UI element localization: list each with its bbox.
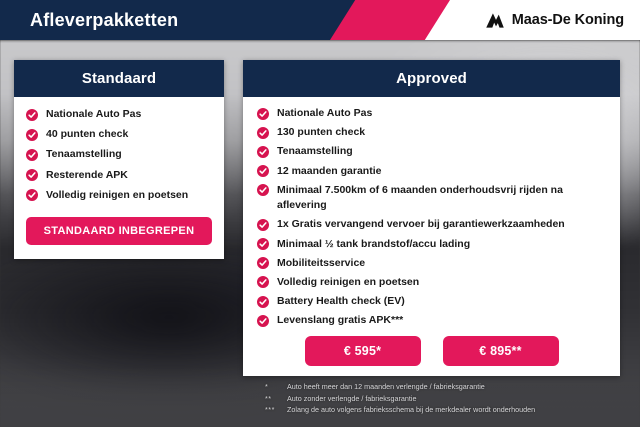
list-item-label: Levenslang gratis APK*** [277,314,403,326]
price-button-row: € 595* € 895** [257,336,606,366]
list-item: Mobiliteitsservice [257,256,606,271]
check-circle-icon [257,127,269,139]
header-bar: Afleverpakketten Maas-De Koning [0,0,640,40]
check-circle-icon [257,219,269,231]
check-circle-icon [257,165,269,177]
check-circle-icon [26,129,38,141]
check-circle-icon [26,169,38,181]
card-standaard-body: Nationale Auto Pas 40 punten check Tenaa… [14,97,224,259]
list-item: Tenaamstelling [26,147,212,162]
check-circle-icon [26,149,38,161]
list-item: 1x Gratis vervangend vervoer bij garanti… [257,217,606,232]
list-item-label: Tenaamstelling [46,148,122,160]
footnote-marker: *** [265,404,287,416]
list-item: Minimaal 7.500km of 6 maanden onderhouds… [257,183,606,213]
header-shadow [0,40,640,43]
list-item-label: 12 maanden garantie [277,165,381,177]
list-item: Resterende APK [26,168,212,183]
list-item: Volledig reinigen en poetsen [26,188,212,203]
card-standaard-heading: Standaard [14,60,224,97]
footnote-text: Auto zonder verlengde / fabrieksgarantie [287,393,625,405]
check-circle-icon [257,296,269,308]
list-item-label: 1x Gratis vervangend vervoer bij garanti… [277,218,565,230]
price-button-595[interactable]: € 595* [305,336,421,366]
standaard-feature-list: Nationale Auto Pas 40 punten check Tenaa… [26,107,212,203]
footnote-text: Auto heeft meer dan 12 maanden verlengde… [287,381,625,393]
footnote-text: Zolang de auto volgens fabrieksschema bi… [287,404,625,416]
approved-feature-list: Nationale Auto Pas 130 punten check Tena… [257,106,606,329]
list-item-label: Nationale Auto Pas [277,107,372,119]
standaard-inbegrepen-button[interactable]: STANDAARD INBEGREPEN [26,217,212,245]
list-item-label: Battery Health check (EV) [277,295,405,307]
list-item-label: Tenaamstelling [277,145,353,157]
list-item: Volledig reinigen en poetsen [257,275,606,290]
list-item: Levenslang gratis APK*** [257,313,606,328]
list-item-label: Mobiliteitsservice [277,257,365,269]
page-title: Afleverpakketten [30,0,178,40]
check-circle-icon [257,108,269,120]
list-item: 12 maanden garantie [257,164,606,179]
price-button-895[interactable]: € 895** [443,336,559,366]
check-circle-icon [26,189,38,201]
maas-de-koning-mark-icon [485,11,505,30]
footnote-marker: ** [265,393,287,405]
footnote-item: *** Zolang de auto volgens fabrieksschem… [265,404,625,416]
list-item-label: Resterende APK [46,169,128,181]
footnote-item: * Auto heeft meer dan 12 maanden verleng… [265,381,625,393]
footnote-marker: * [265,381,287,393]
check-circle-icon [257,184,269,196]
list-item-label: 40 punten check [46,128,128,140]
list-item-label: Volledig reinigen en poetsen [46,189,188,201]
brand-name: Maas-De Koning [512,12,624,28]
check-circle-icon [257,238,269,250]
list-item-label: Nationale Auto Pas [46,108,141,120]
card-standaard: Standaard Nationale Auto Pas 40 punten c… [14,60,224,259]
list-item-label: Minimaal 7.500km of 6 maanden onderhouds… [277,184,563,211]
list-item-label: Minimaal ½ tank brandstof/accu lading [277,238,470,250]
list-item-label: 130 punten check [277,126,365,138]
card-approved: Approved Nationale Auto Pas 130 punten c… [243,60,620,376]
list-item: Battery Health check (EV) [257,294,606,309]
page-root: Afleverpakketten Maas-De Koning Standaar… [0,0,640,427]
list-item: 130 punten check [257,125,606,140]
footnote-item: ** Auto zonder verlengde / fabrieksgaran… [265,393,625,405]
card-approved-heading: Approved [243,60,620,97]
list-item: Tenaamstelling [257,144,606,159]
list-item: Minimaal ½ tank brandstof/accu lading [257,237,606,252]
check-circle-icon [257,276,269,288]
footnote-block: * Auto heeft meer dan 12 maanden verleng… [265,381,625,416]
list-item: 40 punten check [26,127,212,142]
check-circle-icon [257,146,269,158]
check-circle-icon [26,109,38,121]
card-approved-body: Nationale Auto Pas 130 punten check Tena… [243,97,620,376]
list-item: Nationale Auto Pas [26,107,212,122]
brand-logo: Maas-De Koning [485,0,624,40]
check-circle-icon [257,315,269,327]
check-circle-icon [257,257,269,269]
list-item-label: Volledig reinigen en poetsen [277,276,419,288]
list-item: Nationale Auto Pas [257,106,606,121]
